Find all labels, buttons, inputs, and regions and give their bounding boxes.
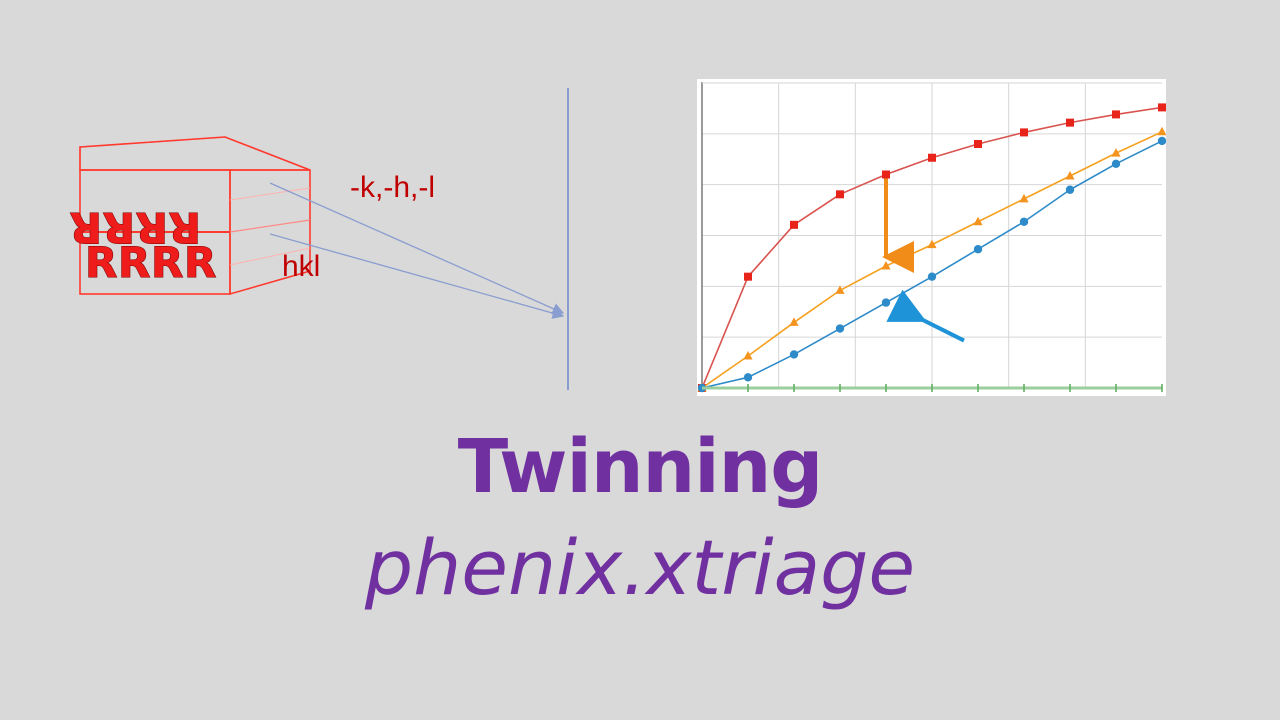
- data-point: [882, 298, 890, 306]
- data-point: [744, 373, 752, 381]
- slide-canvas: R R R R R R R R -k,-h,-l hkl: [0, 0, 1280, 720]
- diffraction-ray-group: [270, 70, 600, 410]
- data-point: [789, 317, 798, 326]
- chart-plot-area: [697, 79, 1166, 396]
- data-point: [974, 245, 982, 253]
- data-point: [1066, 119, 1074, 127]
- data-point: [1158, 103, 1166, 111]
- data-point: [1020, 218, 1028, 226]
- data-point: [743, 351, 752, 360]
- data-point: [1112, 110, 1120, 118]
- letter-r-upright: R: [85, 238, 117, 287]
- page-subtitle: phenix.xtriage: [0, 530, 1280, 606]
- data-point: [790, 221, 798, 229]
- data-point: [1157, 127, 1166, 136]
- data-point: [790, 350, 798, 358]
- ray-from-top-domain: [270, 183, 563, 313]
- page-title: Twinning: [0, 430, 1280, 504]
- chart-gridlines: [702, 83, 1162, 388]
- data-point: [836, 190, 844, 198]
- bottom-domain-letters: R R R R: [85, 238, 216, 287]
- data-point: [974, 140, 982, 148]
- data-point: [1112, 160, 1120, 168]
- data-point: [928, 272, 936, 280]
- data-point: [1066, 186, 1074, 194]
- letter-r-upright: R: [184, 238, 216, 287]
- data-point: [1020, 128, 1028, 136]
- letter-r-upright: R: [118, 238, 150, 287]
- cumulative-intensity-chart: [697, 79, 1166, 396]
- data-point: [836, 324, 844, 332]
- ray-from-bottom-domain: [270, 234, 563, 316]
- data-point: [744, 273, 752, 281]
- letter-r-upright: R: [151, 238, 183, 287]
- data-point: [928, 154, 936, 162]
- data-point: [882, 171, 890, 179]
- blue-left-arrow: [898, 308, 964, 341]
- series-baseline: [702, 384, 1162, 392]
- chart-annotations: [886, 179, 964, 341]
- data-point: [1158, 137, 1166, 145]
